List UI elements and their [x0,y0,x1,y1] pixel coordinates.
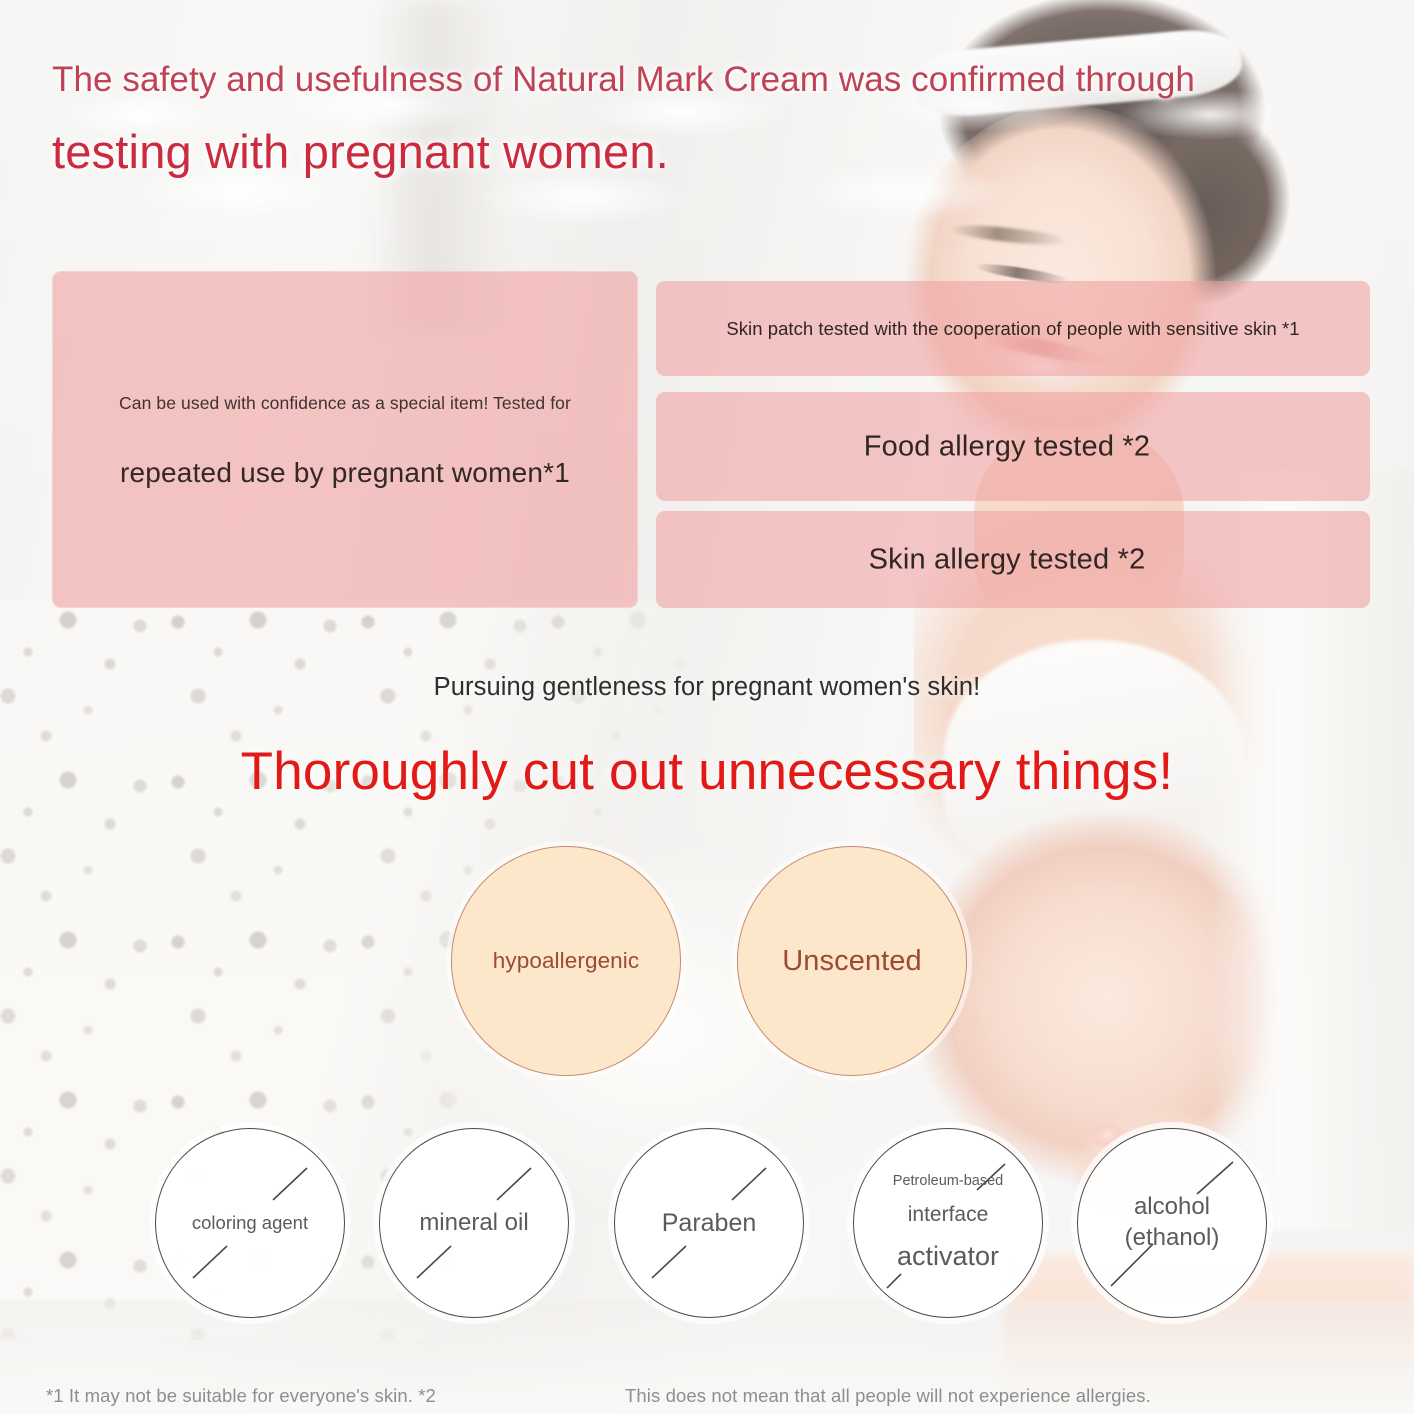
footnote-left: *1 It may not be suitable for everyone's… [46,1385,436,1407]
free-from-circle-mineral-oil-label: mineral oil [409,1208,538,1239]
free-from-circle-mineral-oil: mineral oil [379,1128,569,1318]
main-headline: The safety and usefulness of Natural Mar… [52,62,1322,175]
headline-line-2: testing with pregnant women. [52,128,1322,175]
feature-circle-hypoallergenic: hypoallergenic [451,846,681,1076]
section-headline-red: Thoroughly cut out unnecessary things! [0,741,1414,802]
feature-circle-unscented: Unscented [737,846,967,1076]
feature-circle-unscented-label: Unscented [782,945,922,978]
test-bar-food-allergy-label: Food allergy tested *2 [650,430,1364,463]
free-from-circle-coloring-agent-label: coloring agent [182,1211,318,1235]
test-bar-skin-allergy: Skin allergy tested *2 [656,511,1370,608]
test-bar-skin-allergy-label: Skin allergy tested *2 [650,543,1364,576]
footnote-right: This does not mean that all people will … [625,1385,1151,1407]
free-from-circle-paraben-label: Paraben [652,1207,767,1239]
free-from-circle-paraben: Paraben [614,1128,804,1318]
claim-card-headline: repeated use by pregnant women*1 [52,457,638,489]
headline-line-1: The safety and usefulness of Natural Mar… [52,62,1322,97]
free-from-circle-alcohol-label: alcohol (ethanol) [1115,1192,1230,1253]
claim-card-pregnant-women: Can be used with confidence as a special… [52,271,638,608]
free-from-circle-surfactant: Petroleum-based interface activator [853,1128,1043,1318]
surfactant-line-3: activator [897,1239,999,1274]
surfactant-line-1: Petroleum-based [893,1172,1003,1191]
feature-circle-hypoallergenic-label: hypoallergenic [493,948,640,974]
test-bar-skin-patch-label: Skin patch tested with the cooperation o… [656,318,1370,340]
test-bar-skin-patch: Skin patch tested with the cooperation o… [656,281,1370,376]
surfactant-line-2: interface [908,1202,989,1229]
free-from-circle-coloring-agent: coloring agent [155,1128,345,1318]
claim-card-subtext: Can be used with confidence as a special… [52,393,638,414]
test-bar-food-allergy: Food allergy tested *2 [656,392,1370,501]
section-lead-text: Pursuing gentleness for pregnant women's… [0,673,1414,702]
free-from-circle-alcohol: alcohol (ethanol) [1077,1128,1267,1318]
free-from-circle-surfactant-label: Petroleum-based interface activator [883,1172,1013,1274]
